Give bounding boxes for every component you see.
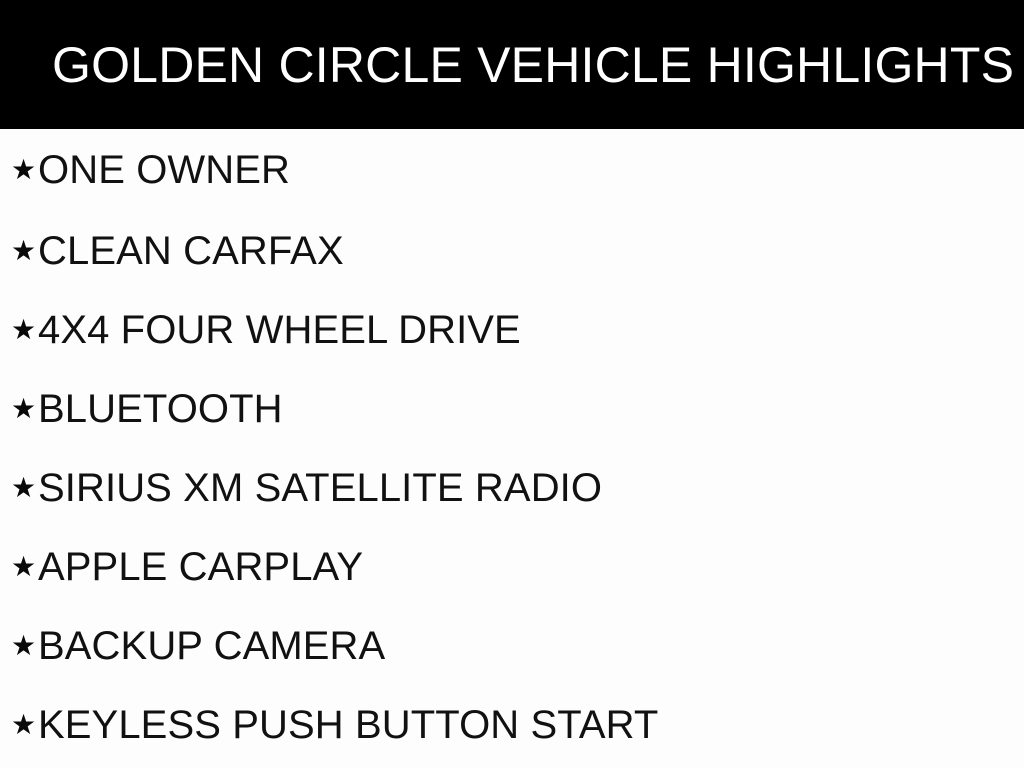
highlight-label: CLEAN CARFAX [38,231,344,271]
highlight-label: 4X4 FOUR WHEEL DRIVE [38,310,521,350]
list-item: ★ BLUETOOTH [0,369,1024,448]
highlight-label: APPLE CARPLAY [38,547,363,587]
star-icon: ★ [0,632,38,660]
star-icon: ★ [0,237,38,265]
list-item: ★ 4X4 FOUR WHEEL DRIVE [0,290,1024,369]
star-icon: ★ [0,711,38,739]
star-icon: ★ [0,156,38,184]
vehicle-highlights-page: GOLDEN CIRCLE VEHICLE HIGHLIGHTS ★ ONE O… [0,0,1024,768]
list-item: ★ CLEAN CARFAX [0,211,1024,290]
star-icon: ★ [0,474,38,502]
list-item: ★ KEYLESS PUSH BUTTON START [0,685,1024,764]
star-icon: ★ [0,316,38,344]
star-icon: ★ [0,553,38,581]
star-icon: ★ [0,395,38,423]
highlight-label: BLUETOOTH [38,389,283,429]
list-item: ★ BACKUP CAMERA [0,606,1024,685]
list-item: ★ SIRIUS XM SATELLITE RADIO [0,448,1024,527]
highlight-label: ONE OWNER [38,150,290,190]
vehicle-highlights-list: ★ ONE OWNER ★ CLEAN CARFAX ★ 4X4 FOUR WH… [0,129,1024,764]
list-item: ★ ONE OWNER [0,129,1024,211]
highlight-label: KEYLESS PUSH BUTTON START [38,705,658,745]
highlight-label: SIRIUS XM SATELLITE RADIO [38,468,602,508]
header-banner: GOLDEN CIRCLE VEHICLE HIGHLIGHTS [0,0,1024,129]
page-title: GOLDEN CIRCLE VEHICLE HIGHLIGHTS [0,40,1014,90]
highlight-label: BACKUP CAMERA [38,626,385,666]
list-item: ★ APPLE CARPLAY [0,527,1024,606]
